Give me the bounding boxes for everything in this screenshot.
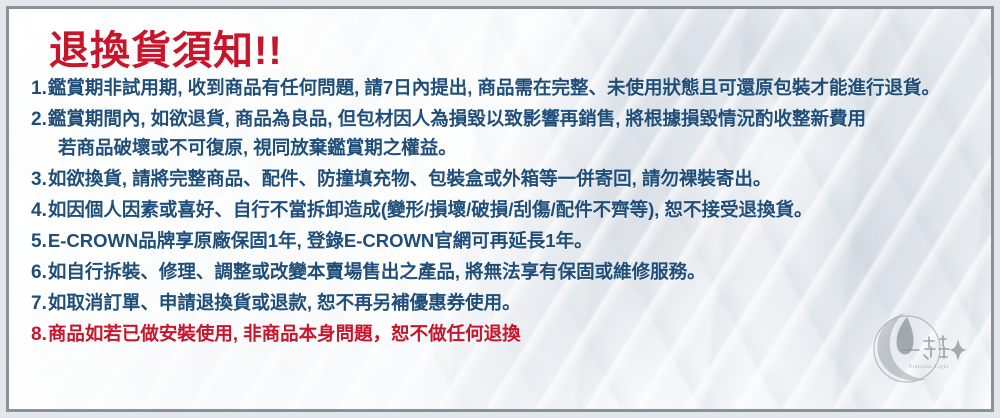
list-item: 6. 如自行拆裝、修理、調整或改變本賣場售出之產品, 將無法享有保固或維修服務。 <box>31 263 973 282</box>
item-text: 如因個人因素或喜好、自行不當拆卸造成(變形/損壞/破損/刮傷/配件不齊等), 恕… <box>48 201 813 220</box>
return-policy-banner: 退換貨須知!! 1. 鑑賞期非試用期, 收到商品有任何問題, 請7日內提出, 商… <box>0 0 1000 418</box>
page-title: 退換貨須知!! <box>49 29 973 73</box>
item-text: 若商品破壞或不可復原, 視同放棄鑑賞期之權益。 <box>58 139 457 158</box>
item-number: 6. <box>31 263 47 282</box>
item-text: 鑑賞期非試用期, 收到商品有任何問題, 請7日內提出, 商品需在完整、未使用狀態… <box>48 79 940 98</box>
item-text: 鑑賞期間內, 如欲退貨, 商品為良品, 但包材因人為損毀以致影響再銷售, 將根據… <box>48 110 866 129</box>
list-item-highlighted: 8. 商品如若已做安裝使用, 非商品本身問題，恕不做任何退換 <box>31 325 973 344</box>
list-item: 3. 如欲換貨, 請將完整商品、配件、防撞填充物、包裝盒或外箱等一併寄回, 請勿… <box>31 170 973 189</box>
item-number: 2. <box>31 110 47 129</box>
item-number: 5. <box>31 232 47 251</box>
item-text: E-CROWN品牌享原廠保固1年, 登錄E-CROWN官網可再延長1年。 <box>48 232 593 251</box>
banner-frame: 退換貨須知!! 1. 鑑賞期非試用期, 收到商品有任何問題, 請7日內提出, 商… <box>6 6 994 412</box>
item-text: 如取消訂單、申請退換貨或退款, 恕不再另補優惠券使用。 <box>48 294 521 313</box>
item-number: 4. <box>31 201 47 220</box>
item-number: 1. <box>31 79 47 98</box>
list-item: 5. E-CROWN品牌享原廠保固1年, 登錄E-CROWN官網可再延長1年。 <box>31 232 973 251</box>
list-item: 7. 如取消訂單、申請退換貨或退款, 恕不再另補優惠券使用。 <box>31 294 973 313</box>
item-number: 7. <box>31 294 47 313</box>
list-item: 1. 鑑賞期非試用期, 收到商品有任何問題, 請7日內提出, 商品需在完整、未使… <box>31 79 973 98</box>
item-text: 商品如若已做安裝使用, 非商品本身問題，恕不做任何退換 <box>48 325 521 344</box>
policy-list: 1. 鑑賞期非試用期, 收到商品有任何問題, 請7日內提出, 商品需在完整、未使… <box>31 79 973 344</box>
list-item: 4. 如因個人因素或喜好、自行不當拆卸造成(變形/損壞/破損/刮傷/配件不齊等)… <box>31 201 973 220</box>
list-item-continuation: 若商品破壞或不可復原, 視同放棄鑑賞期之權益。 <box>57 139 973 158</box>
list-item: 2. 鑑賞期間內, 如欲退貨, 商品為良品, 但包材因人為損毀以致影響再銷售, … <box>31 110 973 129</box>
item-number: 8. <box>31 325 47 344</box>
banner-content: 退換貨須知!! 1. 鑑賞期非試用期, 收到商品有任何問題, 請7日內提出, 商… <box>9 9 991 409</box>
item-text: 如欲換貨, 請將完整商品、配件、防撞填充物、包裝盒或外箱等一併寄回, 請勿裸裝寄… <box>48 170 772 189</box>
item-text: 如自行拆裝、修理、調整或改變本賣場售出之產品, 將無法享有保固或維修服務。 <box>48 263 706 282</box>
item-number: 3. <box>31 170 47 189</box>
